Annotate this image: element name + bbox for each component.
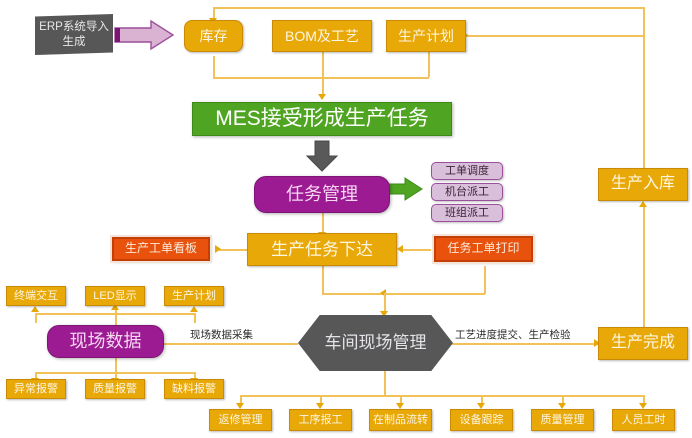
mes-to-task-block-arrow [306,140,338,172]
arrow-into-production-plan-left [190,306,198,312]
node-equipment-tracking[interactable]: 设备跟踪 [450,409,513,431]
node-shortage-alarm[interactable]: 缺料报警 [164,379,224,399]
connector-right-down [643,7,645,187]
node-wip-transfer[interactable]: 在制品流转 [369,409,432,431]
connector-workshop-down [384,371,386,396]
node-machine-assign[interactable]: 机台派工 [431,183,503,201]
node-work-order-dispatch[interactable]: 工单调度 [431,162,503,180]
connector-print-to-release [401,249,431,251]
node-bom-process[interactable]: BOM及工艺 [272,20,372,52]
node-production-plan-top[interactable]: 生产计划 [386,20,466,52]
node-production-complete[interactable]: 生产完成 [598,327,688,360]
connector-inventory-down [213,56,215,78]
node-task-release[interactable]: 生产任务下达 [247,233,397,266]
node-personnel-hours[interactable]: 人员工时 [612,409,675,431]
connector-workshop-to-complete [452,343,598,345]
node-field-data[interactable]: 现场数据 [47,325,164,358]
connector-bom-down [322,52,324,97]
connector-inventory-bus [213,77,333,79]
node-process-reporting[interactable]: 工序报工 [289,409,352,431]
connector-plan-down [428,52,430,77]
node-quality-management[interactable]: 质量管理 [531,409,594,431]
connector-top-rail [213,7,644,9]
node-production-warehousing[interactable]: 生产入库 [598,168,688,201]
connector-merge-down [384,293,386,313]
node-workshop-site-management-label: 车间现场管理 [298,315,453,371]
node-inventory[interactable]: 库存 [184,20,243,52]
node-rework-management[interactable]: 返修管理 [209,409,272,431]
node-led-display[interactable]: LED显示 [85,286,145,306]
connector-print-merge-h [384,293,485,295]
arrow-into-task-release-from-print [397,245,403,253]
arrow-into-warehousing [639,201,647,207]
erp-import-block-arrow [113,19,175,51]
connector-field-data-down [115,357,117,373]
node-abnormal-alarm[interactable]: 异常报警 [6,379,66,399]
connector-merge-h [322,293,385,295]
flowchart-canvas: 现场数据采集 工艺进度提交、生产检验 ERP系统导入生成 库存 BOM及工艺 生… [0,0,692,438]
arrow-into-terminal-interaction [31,306,39,312]
node-workshop-site-management[interactable]: 车间现场管理 [298,315,453,371]
arrow-into-work-order-board [215,245,221,253]
connector-complete-to-warehousing [643,205,645,327]
edge-label-process-submit-inspect: 工艺进度提交、生产检验 [455,327,571,342]
node-task-management[interactable]: 任务管理 [254,176,390,213]
node-work-order-print[interactable]: 任务工单打印 [434,236,533,262]
connector-release-down [322,264,324,294]
connector-print-down [484,266,486,294]
edge-label-field-data-collection: 现场数据采集 [190,327,253,342]
node-team-assign[interactable]: 班组派工 [431,204,503,222]
node-production-plan-left[interactable]: 生产计划 [164,286,224,306]
node-terminal-interaction[interactable]: 终端交互 [6,286,66,306]
node-mes-receive[interactable]: MES接受形成生产任务 [192,102,452,136]
connector-plan-feedback [466,35,644,37]
node-quality-alarm[interactable]: 质量报警 [85,379,145,399]
connector-plan-bus [322,77,429,79]
arrow-into-mes [318,94,326,100]
connector-plan-left-up [194,313,196,323]
connector-bottom-bus [240,395,644,397]
connector-terminal-up [35,313,37,323]
node-work-order-board[interactable]: 生产工单看板 [112,237,210,261]
node-erp-source[interactable]: ERP系统导入生成 [35,14,113,55]
